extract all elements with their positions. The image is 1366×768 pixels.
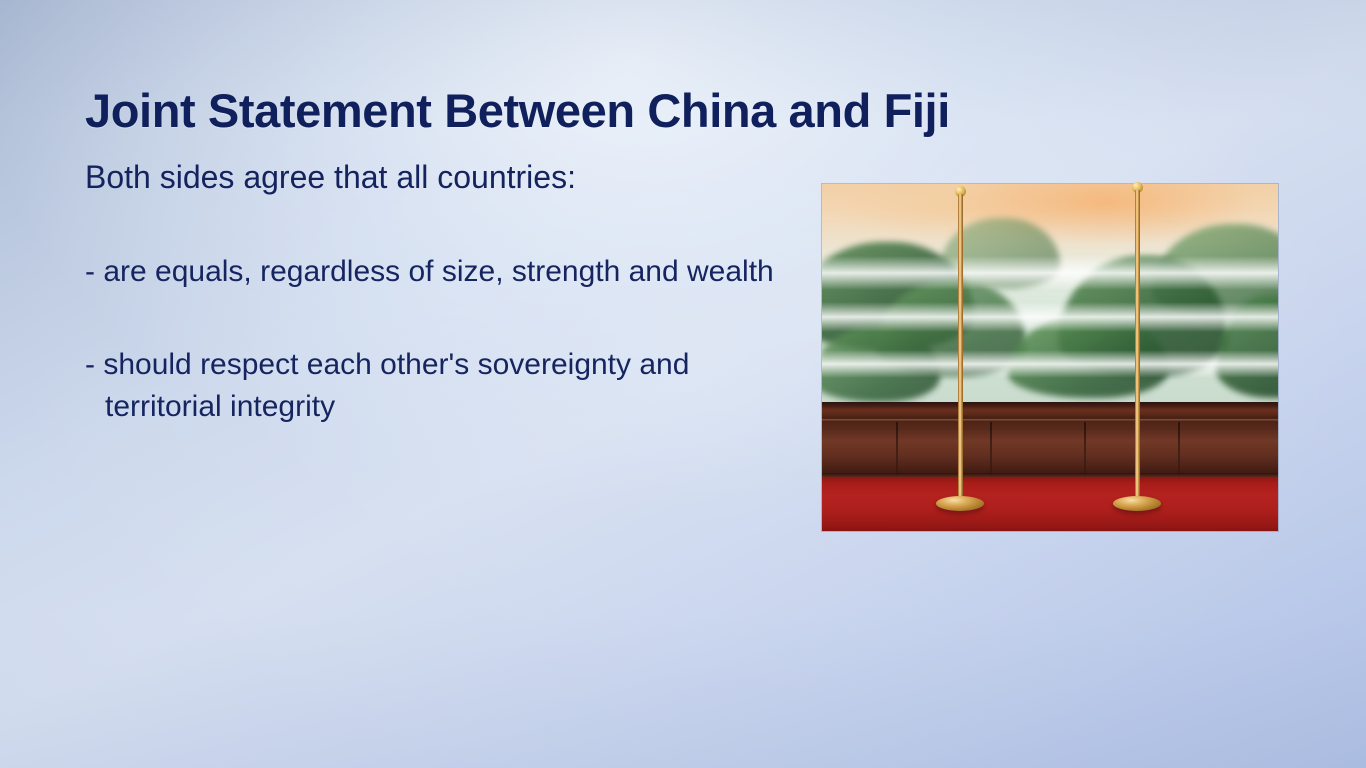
wood-panel-seam [990,422,992,477]
wood-panel-seam [1084,422,1086,477]
painting-mist [822,302,1278,332]
flag-base [1113,496,1161,511]
painting-mist [822,256,1278,290]
page-title: Joint Statement Between China and Fiji [85,86,785,136]
bullet-item-equality: - are equals, regardless of size, streng… [85,251,785,294]
flags-photo [822,184,1278,531]
red-carpet-floor [822,477,1278,531]
flag-pole [958,194,963,502]
flag-base [936,496,984,511]
painting-mist [822,350,1278,378]
wood-panel-seam [1178,422,1180,477]
landscape-painting-backdrop [822,184,1278,402]
flag-pole [1135,190,1140,502]
presentation-slide: Joint Statement Between China and Fiji B… [0,0,1366,768]
wood-panel-seam [896,422,898,477]
slide-subtitle: Both sides agree that all countries: [85,160,785,195]
slide-text-column: Joint Statement Between China and Fiji B… [85,86,785,429]
wood-panel-wall [822,402,1278,477]
bullet-item-sovereignty: - should respect each other's sovereignt… [85,344,785,429]
